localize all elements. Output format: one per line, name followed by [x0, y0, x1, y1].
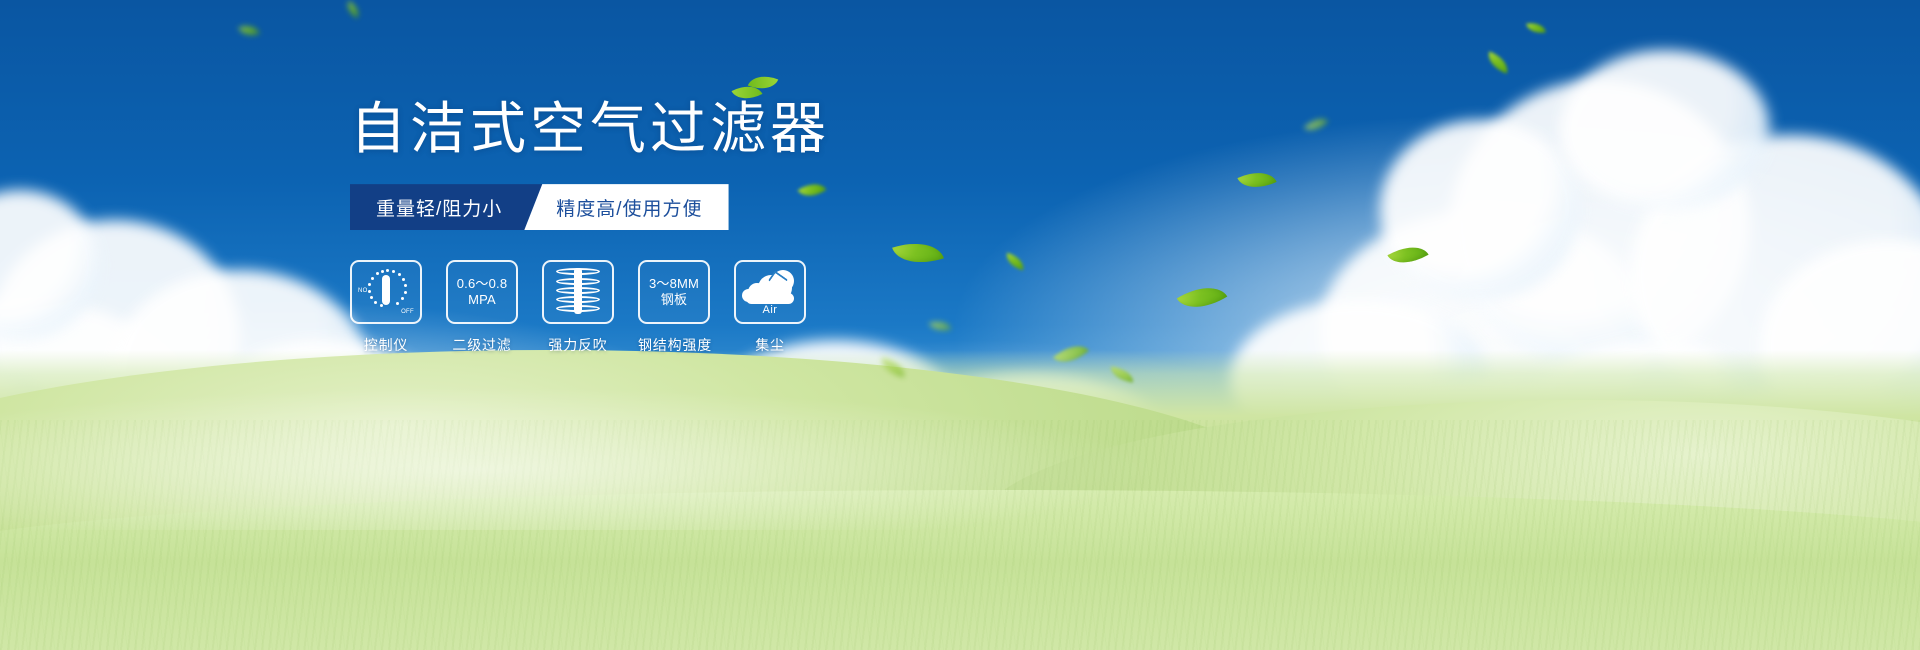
tag-lightweight[interactable]: 重量轻/阻力小	[350, 184, 542, 230]
grass-field	[0, 350, 1920, 650]
leaf-icon	[343, 1, 362, 19]
leaf-icon	[1526, 21, 1546, 36]
title-wrap: 自洁式空气过滤器	[350, 96, 830, 162]
feature-dust-collection[interactable]: Air 集尘	[734, 260, 806, 355]
hero-banner: 自洁式空气过滤器 重量轻/阻力小 精度高/使用方便	[0, 0, 1920, 650]
leaf-icon	[1484, 51, 1512, 73]
feature-backblow-box	[542, 260, 614, 324]
leaf-icon	[1177, 275, 1228, 320]
feature-dust-collection-box: Air	[734, 260, 806, 324]
feature-row: NO OFF 控制仪 0.6～0.8 MPA 二级过滤	[350, 260, 1110, 355]
banner-content: 自洁式空气过滤器 重量轻/阻力小 精度高/使用方便	[350, 96, 1110, 355]
pressure-unit: MPA	[457, 292, 508, 308]
feature-two-stage-filter-label: 二级过滤	[446, 335, 518, 355]
feature-controller[interactable]: NO OFF 控制仪	[350, 260, 422, 355]
gauge-label-off: OFF	[401, 309, 414, 315]
grass-highlight	[0, 380, 1920, 530]
feature-steel-strength[interactable]: 3～8MM 钢板 钢结构强度	[638, 260, 710, 355]
coil-filter-icon	[556, 268, 600, 316]
cloud-air-icon: Air	[742, 269, 798, 315]
steel-thickness: 3～8MM	[649, 276, 699, 292]
steel-material: 钢板	[649, 292, 699, 308]
feature-steel-strength-box: 3～8MM 钢板	[638, 260, 710, 324]
gauge-label-no: NO	[358, 288, 368, 294]
title-leaf-icon	[734, 72, 778, 106]
air-label: Air	[742, 304, 798, 316]
feature-two-stage-filter-box: 0.6～0.8 MPA	[446, 260, 518, 324]
gauge-needle	[382, 275, 390, 305]
tag-row: 重量轻/阻力小 精度高/使用方便	[350, 184, 1110, 230]
leaf-icon	[1237, 164, 1276, 196]
feature-two-stage-filter[interactable]: 0.6～0.8 MPA 二级过滤	[446, 260, 518, 355]
leaf-icon	[1387, 237, 1428, 272]
steel-plate-text-icon: 3～8MM 钢板	[649, 276, 699, 309]
feature-backblow[interactable]: 强力反吹	[542, 260, 614, 355]
leaf-icon	[238, 21, 259, 39]
leaf-icon	[1304, 112, 1329, 137]
pressure-value: 0.6～0.8	[457, 276, 508, 292]
feature-dust-collection-label: 集尘	[734, 335, 806, 355]
feature-controller-box: NO OFF	[350, 260, 422, 324]
feature-backblow-label: 强力反吹	[542, 335, 614, 355]
tag-precision[interactable]: 精度高/使用方便	[524, 184, 728, 230]
feature-steel-strength-label: 钢结构强度	[638, 335, 710, 355]
gauge-icon: NO OFF	[359, 268, 413, 316]
feature-controller-label: 控制仪	[350, 335, 422, 355]
pressure-text-icon: 0.6～0.8 MPA	[457, 276, 508, 309]
